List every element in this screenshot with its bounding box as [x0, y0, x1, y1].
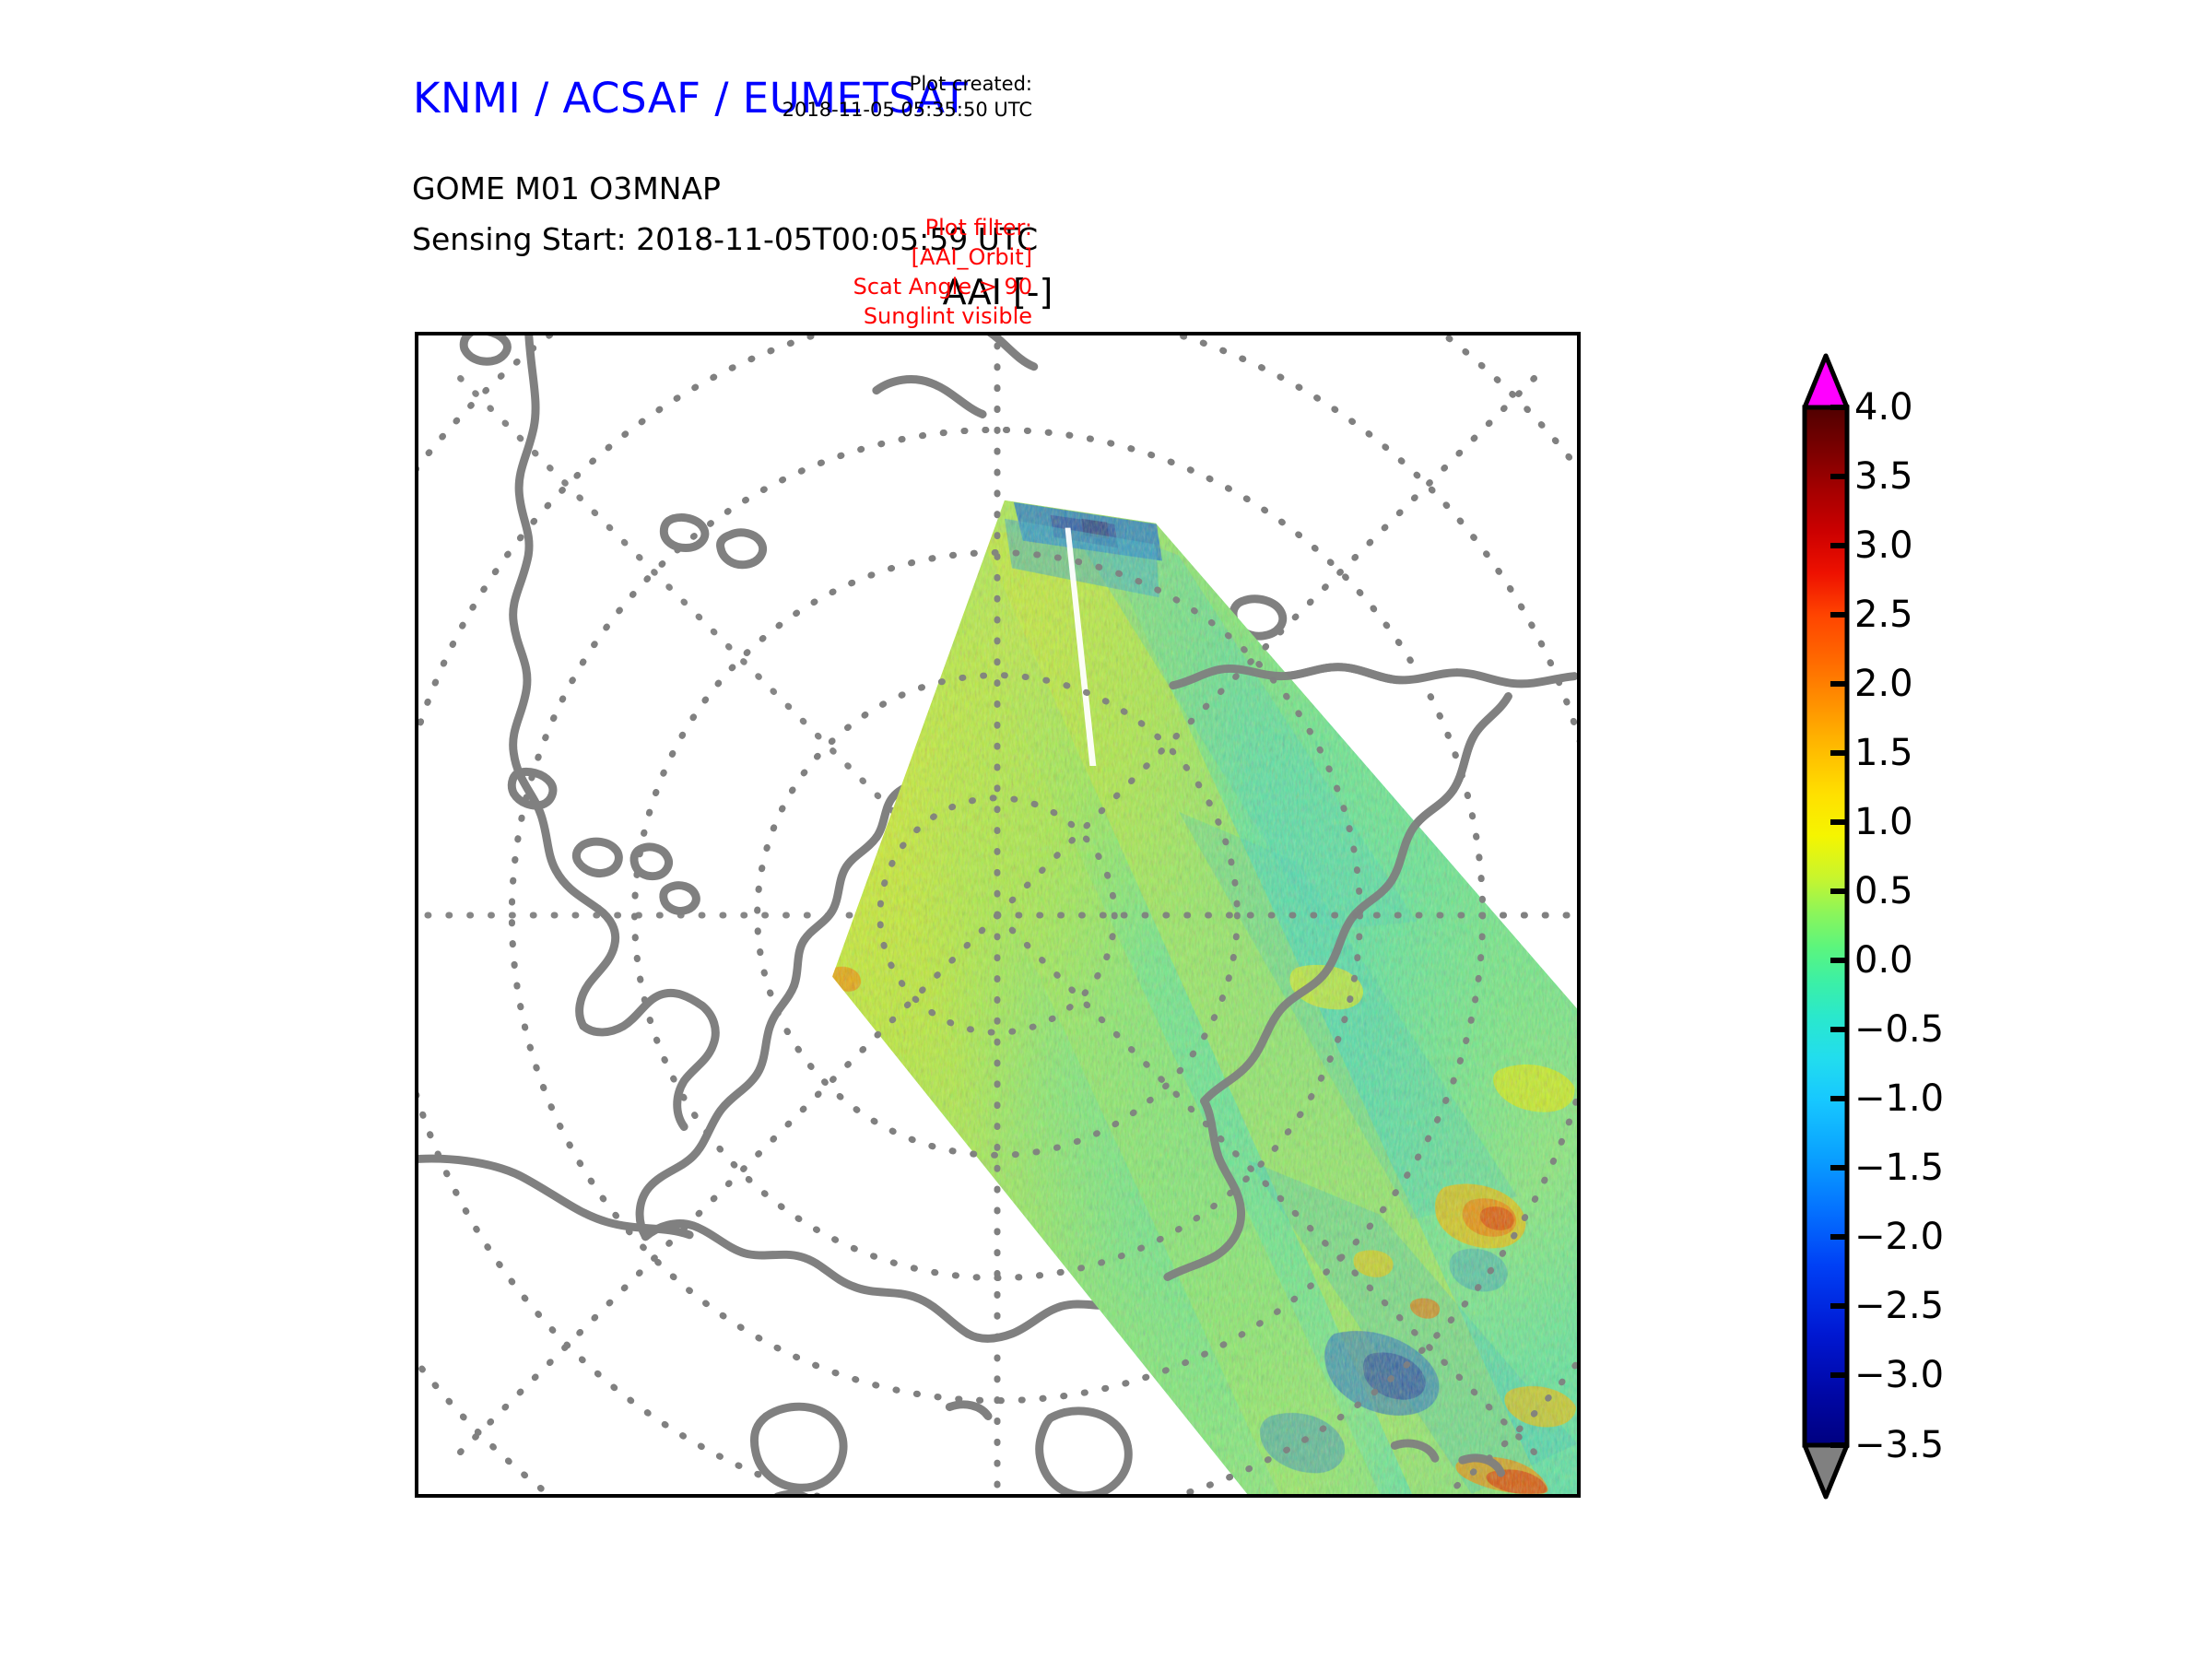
plot-filter-orbit: [AAI_Orbit] [719, 243, 1032, 273]
colorbar-tick-label: −2.5 [1854, 1285, 1944, 1327]
plot-filter-sunglint: Sunglint visible [719, 302, 1032, 332]
colorbar-over-arrow [1805, 356, 1847, 407]
colorbar-tick-label: 0.0 [1854, 939, 1913, 982]
colorbar-svg [1797, 350, 2184, 1502]
map-plot-area[interactable] [415, 332, 1581, 1498]
colorbar-tick-label: −2.0 [1854, 1216, 1944, 1258]
plot-filter-block: Plot filter: [AAI_Orbit] Scat Angle > 90… [719, 214, 1032, 332]
plot-filter-label: Plot filter: [719, 214, 1032, 243]
colorbar-tick-label: −1.5 [1854, 1147, 1944, 1189]
colorbar-tick-label: 1.5 [1854, 732, 1913, 774]
colorbar-under-arrow [1805, 1445, 1847, 1497]
plot-filter-scat-angle: Scat Angle > 90 [719, 273, 1032, 302]
plot-created-value: 2018-11-05 05:35:50 UTC [719, 98, 1032, 124]
dataset-label: GOME M01 O3MNAP [412, 171, 721, 206]
colorbar-tick-label: 1.0 [1854, 801, 1913, 843]
colorbar-tick-label: 2.5 [1854, 594, 1913, 636]
plot-created-label: Plot created: [719, 72, 1032, 98]
colorbar[interactable]: 4.0 3.5 3.0 2.5 2.0 1.5 1.0 0.5 0.0 −0.5… [1797, 350, 2184, 1502]
colorbar-tick-label: 4.0 [1854, 386, 1913, 429]
colorbar-tick-label: −3.5 [1854, 1424, 1944, 1466]
plot-created-block: Plot created: 2018-11-05 05:35:50 UTC [719, 72, 1032, 123]
colorbar-gradient [1805, 407, 1847, 1445]
colorbar-tick-label: 2.0 [1854, 663, 1913, 705]
colorbar-tick-label: 3.0 [1854, 524, 1913, 567]
colorbar-tick-label: 0.5 [1854, 870, 1913, 912]
colorbar-tick-label: −3.0 [1854, 1354, 1944, 1396]
colorbar-tick-label: 3.5 [1854, 455, 1913, 498]
polar-map [418, 335, 1577, 1494]
colorbar-tick-label: −0.5 [1854, 1008, 1944, 1051]
colorbar-tick-label: −1.0 [1854, 1077, 1944, 1120]
satellite-swath [784, 464, 1577, 1494]
